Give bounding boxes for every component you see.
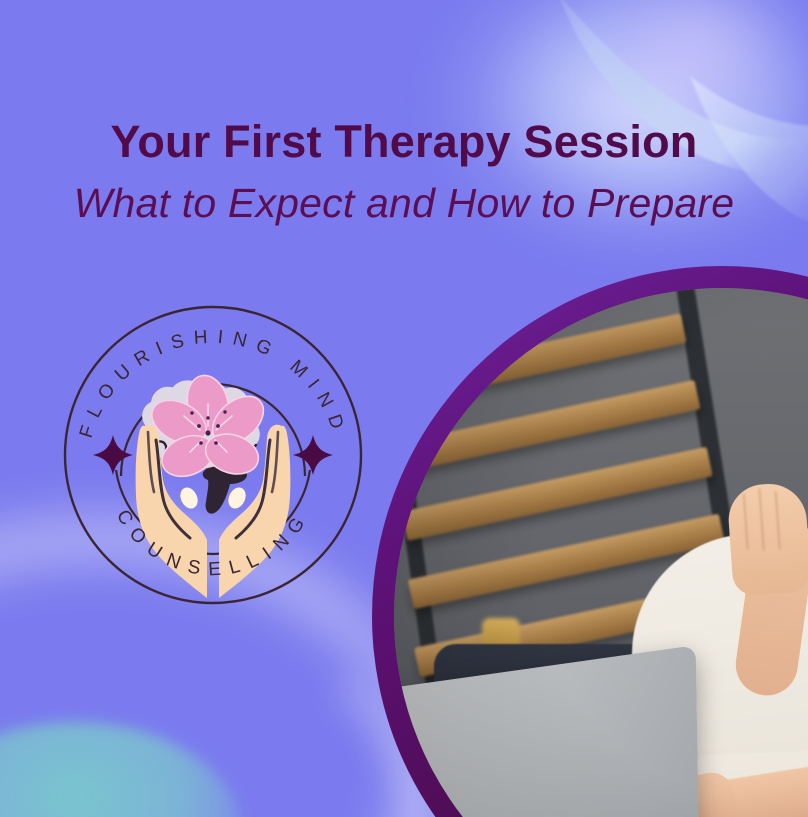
photo-artwork [394,288,808,817]
headline-block: Your First Therapy Session What to Expec… [0,118,808,225]
session-photo [394,288,808,817]
brand-logo[interactable]: FLOURISHING MIND COUNSELLING [58,300,368,610]
bottom-left-arc-inner-icon [0,597,430,817]
photo-vignette [394,288,808,817]
page-subtitle: What to Expect and How to Prepare [0,181,808,225]
poster-canvas: Your First Therapy Session What to Expec… [0,0,808,817]
photo-disc-frame [372,266,808,817]
teal-blob-icon [0,722,240,817]
page-title: Your First Therapy Session [0,118,808,167]
